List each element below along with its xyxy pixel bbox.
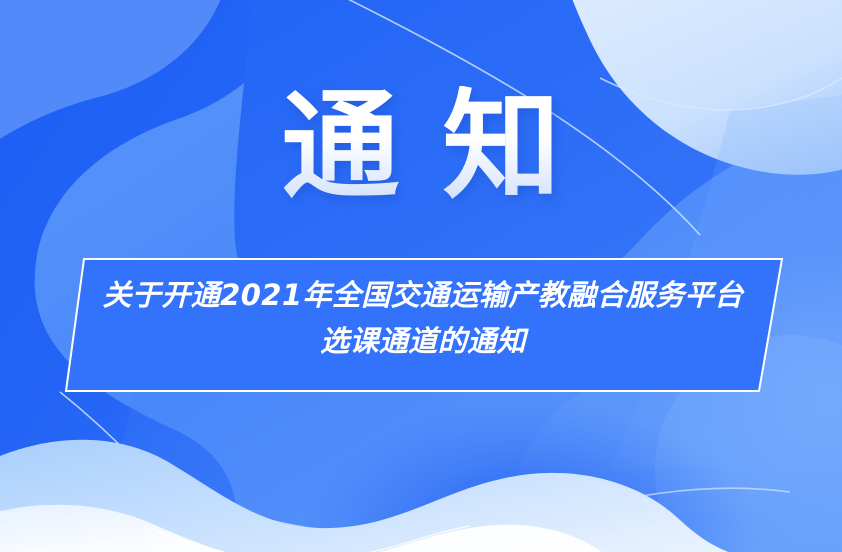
notice-banner: 关于开通2021年全国交通运输产教融合服务平台 选课通道的通知 xyxy=(0,0,842,552)
banner-shape xyxy=(0,0,842,552)
banner-parallelogram xyxy=(66,259,782,391)
notice-poster: 通 知 关于开通2021年全国交通运输产教融合服务平台 选课通道的通知 xyxy=(0,0,842,552)
